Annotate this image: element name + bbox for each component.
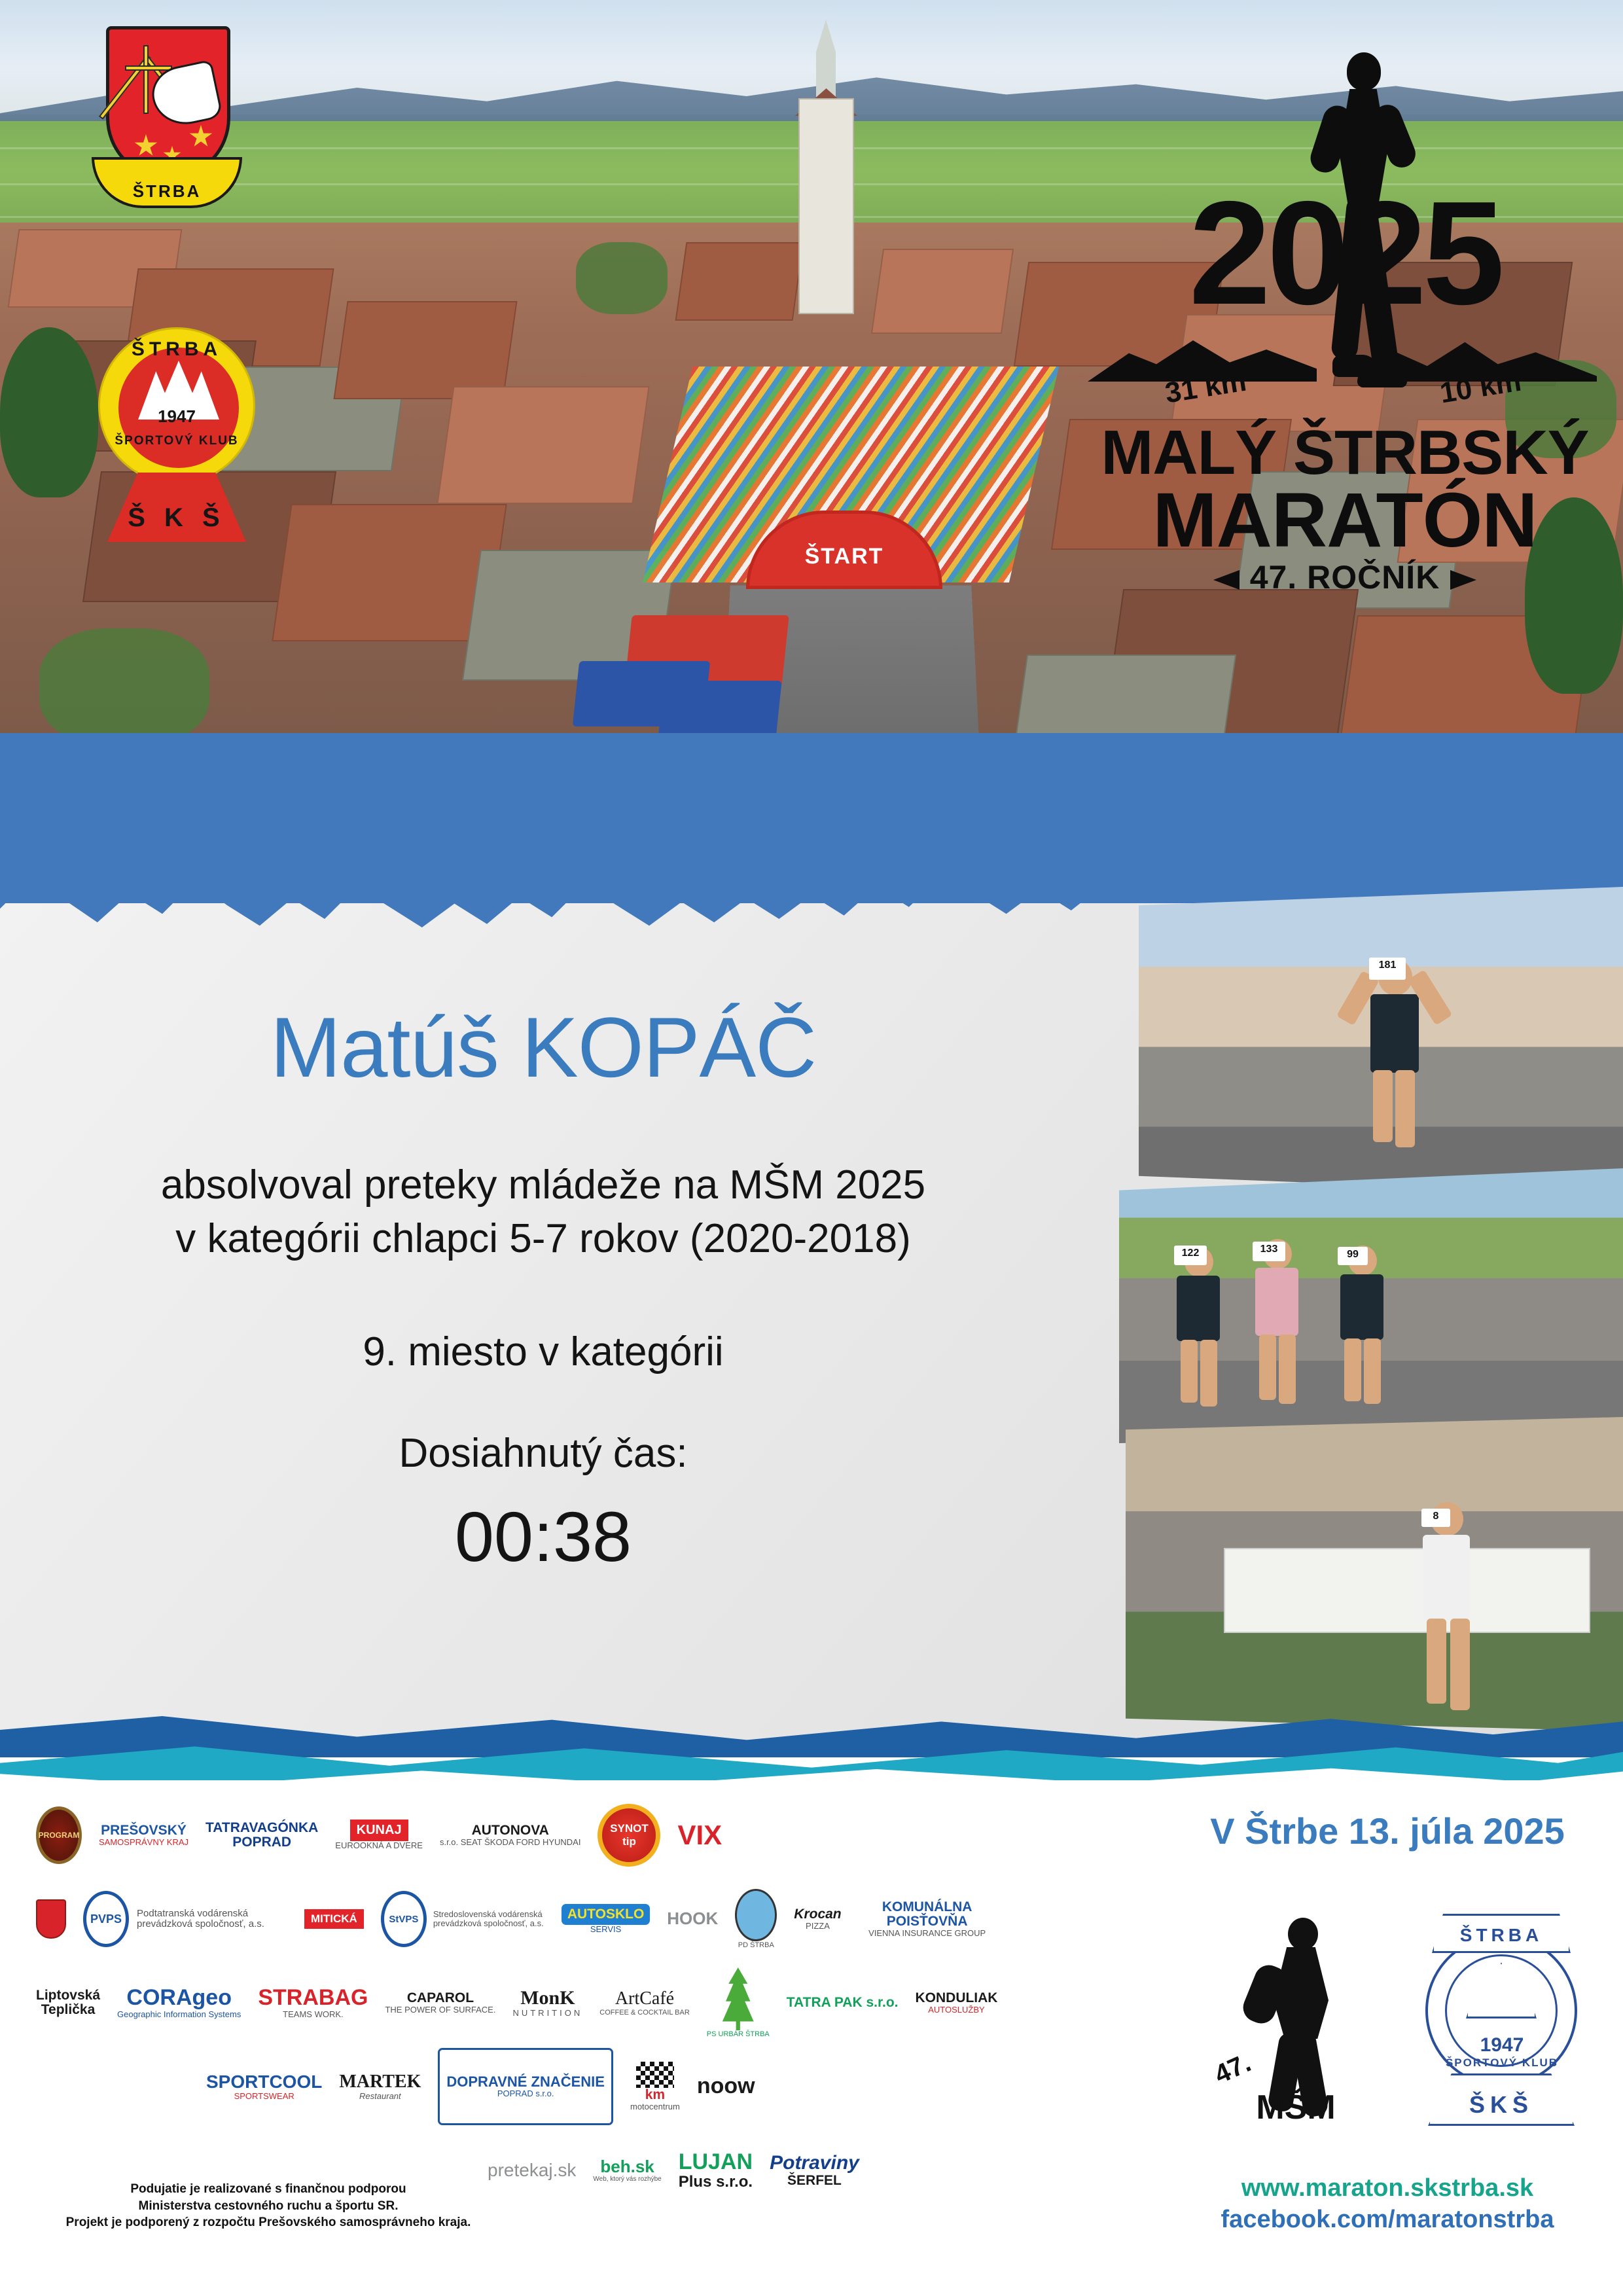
stamp-arc-label: ŠPORTOVÝ KLUB: [1414, 2056, 1590, 2070]
strba-coat-of-arms: ŠTRBA: [92, 26, 242, 216]
star-icon: [189, 125, 213, 149]
race-logo: 2025 31 km 10 km MALÝ ŠTRBSKÝ MARATÓN 47…: [1073, 36, 1616, 612]
sponsor-label: KUNAJ: [357, 1823, 402, 1837]
sponsor-logo[interactable]: PS URBÁR ŠTRBA: [707, 1964, 770, 2041]
sponsor-label: pretekaj.sk: [488, 2161, 576, 2179]
stamp-year: 1947: [1414, 2034, 1590, 2056]
sponsor-logo[interactable]: ArtCafé COFFEE & COCKTAIL BAR: [599, 1964, 690, 2041]
sponsor-label: Potraviny: [770, 2153, 859, 2174]
sponsor-logo[interactable]: noow: [697, 2048, 755, 2125]
start-arch-label: ŠTART: [749, 544, 939, 569]
sponsor-sublabel: Restaurant: [359, 2092, 401, 2101]
sponsor-logo[interactable]: StVPS Stredoslovenská vodárenská prevádz…: [381, 1880, 544, 1958]
sponsor-logo[interactable]: AUTONOVA s.r.o. SEAT ŠKODA FORD HYUNDAI: [440, 1797, 581, 1874]
wave-divider: [0, 1712, 1623, 1790]
race-edition: 47. ROČNÍK: [1250, 559, 1440, 596]
stamp-abbr: ŠKŠ: [1428, 2073, 1575, 2126]
sponsor-grid: PROGRAM PREŠOVSKÝ SAMOSPRÁVNY KRAJ TATRA…: [36, 1793, 1149, 2212]
sponsor-label: KONDULIAK: [915, 1991, 997, 2005]
description-line-2: v kategórii chlapci 5-7 rokov (2020-2018…: [39, 1212, 1047, 1266]
funding-note-line-3: Projekt je podporený z rozpočtu Prešovsk…: [39, 2214, 497, 2231]
race-edition-row: 47. ROČNÍK: [1073, 558, 1616, 596]
race-title-line2: MARATÓN: [1073, 476, 1616, 565]
msm-abbr: MŠM: [1211, 2088, 1381, 2127]
liptovska-crest-icon: [36, 1899, 66, 1939]
star-icon: [134, 134, 158, 158]
sponsor-logo[interactable]: Potraviny ŠERFEL: [770, 2132, 859, 2209]
time-value: 00:38: [39, 1496, 1047, 1577]
sponsor-sublabel: SERVIS: [590, 1925, 621, 1934]
bib-number: 133: [1253, 1242, 1285, 1261]
sponsor-logo[interactable]: KUNAJ EUROOKNÁ A DVERE: [335, 1797, 423, 1874]
sponsor-logo[interactable]: KOMUNÁLNA POISŤOVŇA VIENNA INSURANCE GRO…: [859, 1880, 996, 1958]
sponsor-sublabel: Stredoslovenská vodárenská prevádzková s…: [433, 1910, 544, 1929]
sponsor-label: VIX: [677, 1821, 722, 1850]
tent-blue-2: [658, 681, 781, 740]
sponsor-logo[interactable]: Liptovská Teplička: [36, 1964, 100, 2041]
stamp-top-label: ŠTRBA: [1432, 1914, 1571, 1953]
sponsor-logo[interactable]: km motocentrum: [630, 2048, 680, 2125]
facebook-link[interactable]: facebook.com/maratonstrba: [1171, 2204, 1603, 2236]
sponsor-logo[interactable]: Krocan PIZZA: [794, 1880, 841, 1958]
certificate-page: ŠTART ŠTRBA ŠTRBA 1947: [0, 0, 1623, 2296]
sponsor-sublabel: Plus s.r.o.: [679, 2174, 753, 2190]
sponsor-label: TATRA PAK s.r.o.: [787, 1996, 899, 2010]
sponsor-sublabel: VIENNA INSURANCE GROUP: [868, 1929, 986, 1938]
crest-ribbon: ŠTRBA: [92, 157, 242, 208]
sponsor-sublabel: PIZZA: [806, 1922, 830, 1931]
sponsor-label: MARTEK: [339, 2072, 421, 2091]
sponsor-logo[interactable]: SPORTCOOL SPORTSWEAR: [206, 2048, 322, 2125]
sponsor-logo[interactable]: STRABAG TEAMS WORK.: [258, 1964, 368, 2041]
sponsor-sublabel: THE POWER OF SURFACE.: [385, 2005, 495, 2015]
badge-year: 1947: [100, 406, 253, 427]
program-badge-icon: PROGRAM: [36, 1806, 82, 1864]
photo-collage: 181 122 133 99: [1106, 887, 1623, 1738]
sponsor-label: Krocan: [794, 1907, 841, 1922]
participant-name: Matúš KOPÁČ: [39, 998, 1047, 1096]
kunaj-box: KUNAJ: [350, 1820, 408, 1841]
sponsor-sublabel: AUTOSLUŽBY: [928, 2005, 984, 2015]
sponsor-sublabel: NUTRITION: [512, 2009, 582, 2018]
msm-runner-logo: 47. MŠM: [1211, 1911, 1394, 2127]
sponsor-sublabel: Teplička: [41, 2003, 95, 2017]
sponsor-logo[interactable]: CAPAROL THE POWER OF SURFACE.: [385, 1964, 495, 2041]
sponsor-sublabel: TEAMS WORK.: [283, 2010, 343, 2019]
sks-club-badge: ŠTRBA 1947 ŠPORTOVÝ KLUB Š K Š: [98, 327, 255, 602]
sks-stamp-logo: ŠTRBA 1947 ŠPORTOVÝ KLUB ŠKŠ: [1414, 1911, 1590, 2127]
sponsor-label: SYNOT tip: [602, 1822, 656, 1848]
photo-finish-line: 8: [1126, 1417, 1623, 1731]
sponsor-logo[interactable]: MonK NUTRITION: [512, 1964, 582, 2041]
sponsor-label: noow: [697, 2075, 755, 2098]
bib-number: 8: [1421, 1509, 1450, 1527]
sponsor-label: SPORTCOOL: [206, 2072, 322, 2091]
issue-date: V Štrbe 13. júla 2025: [1171, 1810, 1603, 1852]
sponsor-label: AUTOSKLO: [562, 1904, 650, 1925]
sponsor-logo[interactable]: pretekaj.sk: [488, 2132, 576, 2209]
checkered-flag-icon: [636, 2062, 674, 2088]
sponsor-label: MITICKÁ: [311, 1912, 357, 1925]
tree-icon: [721, 1967, 755, 2030]
photo-road-runners: 122 133 99: [1119, 1168, 1623, 1443]
sponsor-sublabel: motocentrum: [630, 2102, 680, 2111]
badge-arc-label: ŠPORTOVÝ KLUB: [100, 434, 253, 448]
sponsor-label: PVPS: [90, 1912, 122, 1926]
sponsor-label: km: [645, 2088, 665, 2102]
sponsor-logo[interactable]: beh.sk Web, ktorý vás rozhýbe: [593, 2132, 661, 2209]
bib-number: 181: [1369, 958, 1406, 980]
bib-number: 99: [1338, 1247, 1368, 1265]
sponsor-logo[interactable]: DOPRAVNÉ ZNAČENIE POPRAD s.r.o.: [438, 2048, 613, 2125]
sponsor-logo[interactable]: MITICKÁ: [304, 1880, 364, 1958]
sponsor-sublabel: s.r.o. SEAT ŠKODA FORD HYUNDAI: [440, 1838, 581, 1847]
sponsor-sublabel: ŠERFEL: [787, 2174, 842, 2188]
sponsor-label: LUJAN: [679, 2151, 753, 2174]
description-line-1: absolvoval preteky mládeže na MŠM 2025: [39, 1158, 1047, 1212]
sponsor-label: TATRAVAGÓNKA: [205, 1821, 318, 1835]
time-label: Dosiahnutý čas:: [39, 1430, 1047, 1477]
sponsor-sublabel: Geographic Information Systems: [117, 2010, 241, 2019]
sponsor-logo[interactable]: PVPS Podtatranská vodárenská prevádzková…: [83, 1880, 287, 1958]
sponsor-logo[interactable]: PREŠOVSKÝ SAMOSPRÁVNY KRAJ: [99, 1797, 188, 1874]
sponsor-logo[interactable]: VIX: [677, 1797, 722, 1874]
sponsor-label: DOPRAVNÉ ZNAČENIE: [446, 2074, 605, 2089]
sponsor-logo[interactable]: PD ŠTRBA: [735, 1880, 777, 1958]
sponsor-label: STRABAG: [258, 1986, 368, 2010]
sponsor-row: PVPS Podtatranská vodárenská prevádzková…: [36, 1877, 1149, 1961]
sponsor-label: CORAgeo: [126, 1986, 232, 2010]
arrow-left-icon: [1213, 570, 1240, 590]
sponsor-label: HOOK: [667, 1910, 718, 1928]
website-link[interactable]: www.maraton.skstrba.sk: [1171, 2173, 1603, 2204]
photo-finish-runner: 181: [1139, 887, 1623, 1194]
sponsor-label: CAPAROL: [407, 1991, 474, 2005]
sponsor-label: KOMUNÁLNA POISŤOVŇA: [859, 1900, 996, 1929]
sponsor-label: ArtCafé: [615, 1989, 674, 2008]
sponsor-sublabel: Web, ktorý vás rozhýbe: [593, 2176, 661, 2183]
miticka-box: MITICKÁ: [304, 1909, 364, 1929]
sponsor-logo[interactable]: [36, 1880, 66, 1958]
sponsor-logo[interactable]: KONDULIAK AUTOSLUŽBY: [915, 1964, 997, 2041]
msm-logos: 47. MŠM ŠTRBA 1947 ŠPORTOVÝ KLUB ŠKŠ: [1198, 1898, 1603, 2134]
contact-links: www.maraton.skstrba.sk facebook.com/mara…: [1171, 2173, 1603, 2235]
funding-note-line-1: Podujatie je realizované s finančnou pod…: [39, 2181, 497, 2198]
church: [795, 20, 857, 314]
placement-text: 9. miesto v kategórii: [39, 1329, 1047, 1375]
sponsor-label: PROGRAM: [39, 1831, 80, 1840]
sponsor-label: Liptovská: [36, 1988, 100, 2003]
hero-photo-village: ŠTART ŠTRBA ŠTRBA 1947: [0, 0, 1623, 740]
sponsor-logo[interactable]: PROGRAM: [36, 1797, 82, 1874]
sponsor-sublabel: SAMOSPRÁVNY KRAJ: [99, 1838, 188, 1847]
footer: PROGRAM PREŠOVSKÝ SAMOSPRÁVNY KRAJ TATRA…: [0, 1780, 1623, 2296]
sponsor-row: PROGRAM PREŠOVSKÝ SAMOSPRÁVNY KRAJ TATRA…: [36, 1793, 1149, 1877]
funding-note: Podujatie je realizované s finančnou pod…: [39, 2181, 497, 2231]
sponsor-label: PREŠOVSKÝ: [101, 1823, 187, 1838]
sponsor-sublabel: EUROOKNÁ A DVERE: [335, 1841, 423, 1850]
sponsor-logo[interactable]: LUJAN Plus s.r.o.: [679, 2132, 753, 2209]
sponsor-sublabel: Podtatranská vodárenská prevádzková spol…: [137, 1909, 287, 1930]
sponsor-sublabel: COFFEE & COCKTAIL BAR: [599, 2009, 690, 2017]
sponsor-sublabel: POPRAD s.r.o.: [497, 2089, 554, 2098]
badge-abbr: Š K Š: [107, 503, 246, 533]
sponsor-label: MonK: [520, 1988, 575, 2009]
sponsor-logo[interactable]: AUTOSKLO SERVIS: [562, 1880, 650, 1958]
crest-name: ŠTRBA: [94, 181, 240, 202]
sponsor-logo[interactable]: SYNOT tip: [597, 1797, 660, 1874]
sponsor-logo[interactable]: TATRA PAK s.r.o.: [787, 1964, 899, 2041]
sponsor-label: PD ŠTRBA: [738, 1941, 774, 1949]
arrow-right-icon: [1450, 570, 1476, 590]
sponsor-sublabel: POPRAD: [232, 1835, 291, 1850]
funding-note-line-2: Ministerstva cestovného ruchu a športu S…: [39, 2198, 497, 2215]
sponsor-logo[interactable]: CORAgeo Geographic Information Systems: [117, 1964, 241, 2041]
sponsor-row: SPORTCOOL SPORTSWEAR MARTEK Restaurant D…: [36, 2045, 1149, 2128]
bib-number: 122: [1174, 1246, 1207, 1265]
sponsor-label: AUTONOVA: [472, 1823, 549, 1838]
sponsor-logo[interactable]: TATRAVAGÓNKA POPRAD: [205, 1797, 318, 1874]
sponsor-sublabel: SPORTSWEAR: [234, 2092, 294, 2101]
sponsor-label: PS URBÁR ŠTRBA: [707, 2030, 770, 2038]
certificate-description: absolvoval preteky mládeže na MŠM 2025 v…: [39, 1158, 1047, 1266]
badge-top-label: ŠTRBA: [100, 329, 253, 361]
sponsor-label: beh.sk: [600, 2158, 654, 2176]
sponsor-logo[interactable]: HOOK: [667, 1880, 718, 1958]
sponsor-label: StVPS: [389, 1914, 418, 1925]
pd-strba-icon: [735, 1889, 777, 1941]
msm-edition: 47.: [1210, 2049, 1255, 2090]
sponsor-logo[interactable]: MARTEK Restaurant: [339, 2048, 421, 2125]
sponsor-row: Liptovská Teplička CORAgeo Geographic In…: [36, 1961, 1149, 2045]
